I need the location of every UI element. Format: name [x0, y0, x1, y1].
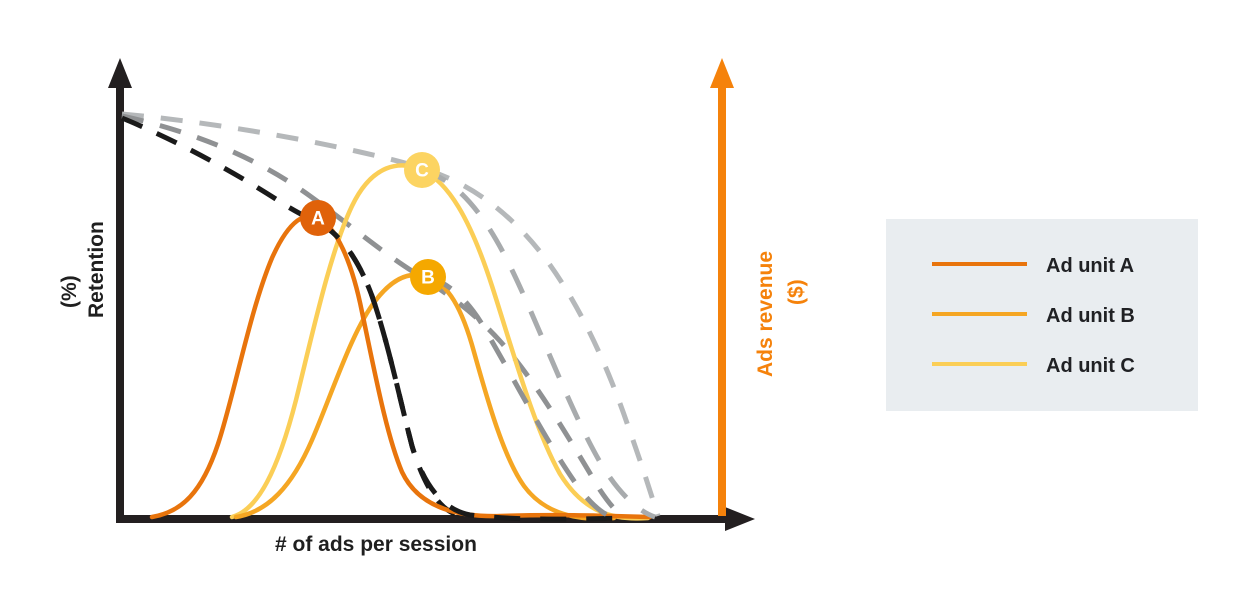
chart-container: C A B Retention (%) Ads revenue ($) # of… [0, 0, 1257, 597]
retention-curve-ad-unit-a [122, 118, 455, 514]
marker-b[interactable]: B [410, 259, 446, 295]
legend-label-ad-unit-c: Ad unit C [1046, 355, 1135, 377]
y-axis-right-arrowhead-icon [710, 58, 734, 88]
retention-overlay-ad-unit-a [318, 222, 630, 519]
revenue-curves-group [152, 165, 650, 518]
marker-a[interactable]: A [300, 200, 336, 236]
legend: Ad unit A Ad unit B Ad unit C [886, 219, 1198, 411]
ads-revenue-retention-chart: C A B Retention (%) Ads revenue ($) # of… [0, 0, 1257, 597]
retention-curve-ad-unit-c [122, 114, 658, 516]
retention-curves-group [122, 114, 658, 518]
marker-a-label: A [311, 209, 325, 230]
legend-label-ad-unit-a: Ad unit A [1046, 255, 1134, 277]
x-axis [116, 507, 755, 531]
legend-label-ad-unit-b: Ad unit B [1046, 305, 1135, 327]
markers-group: C A B [300, 152, 446, 295]
y-axis-right [710, 58, 734, 516]
y-axis-right-unit: ($) [785, 279, 808, 305]
marker-c-label: C [415, 161, 429, 182]
marker-b-label: B [421, 268, 435, 289]
x-axis-arrowhead-icon [725, 507, 755, 531]
y-axis-left-arrowhead-icon [108, 58, 132, 88]
y-axis-right-title: Ads revenue [754, 251, 777, 377]
y-axis-left [108, 58, 132, 519]
marker-c[interactable]: C [404, 152, 440, 188]
x-axis-title: # of ads per session [275, 533, 477, 556]
y-axis-left-unit: (%) [58, 275, 81, 308]
y-axis-left-title: Retention [85, 221, 108, 318]
retention-overlay-ad-unit-c [422, 170, 655, 517]
